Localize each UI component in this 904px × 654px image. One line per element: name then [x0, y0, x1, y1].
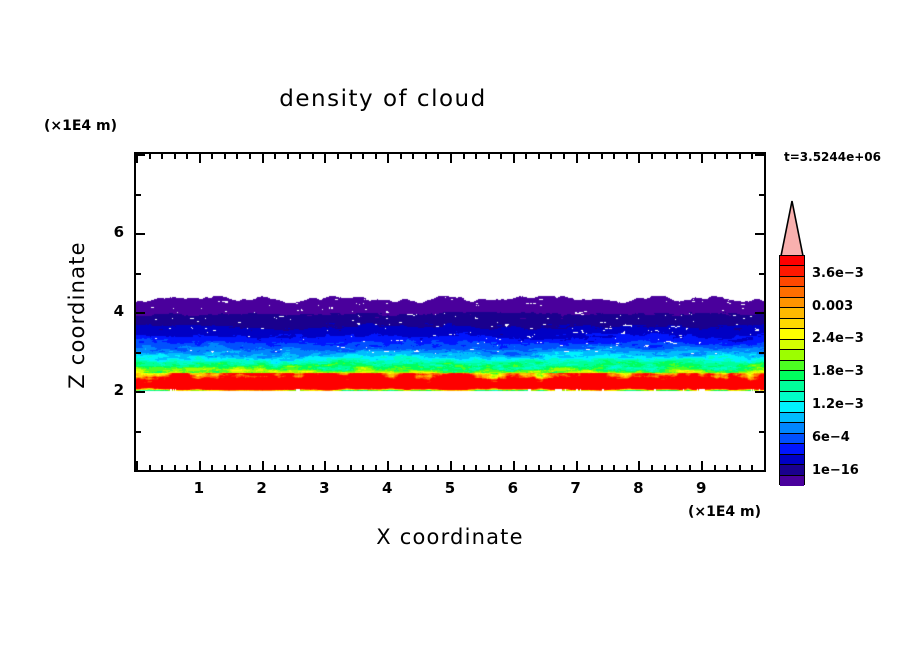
- colorbar-segment: [780, 381, 804, 391]
- tick-mark: [755, 233, 764, 235]
- tick-mark: [161, 465, 163, 470]
- tick-mark: [755, 391, 764, 393]
- tick-mark: [475, 465, 477, 470]
- x-tick-label: 3: [304, 479, 344, 497]
- tick-mark: [764, 154, 766, 163]
- tick-mark: [136, 154, 145, 156]
- tick-mark: [755, 312, 764, 314]
- colorbar-segment: [780, 266, 804, 276]
- tick-mark: [626, 465, 628, 470]
- colorbar-segment: [780, 277, 804, 287]
- tick-mark: [488, 154, 490, 159]
- tick-mark: [274, 465, 276, 470]
- tick-mark: [755, 154, 764, 156]
- tick-mark: [664, 154, 666, 159]
- colorbar-segment: [780, 444, 804, 454]
- tick-mark: [136, 273, 141, 275]
- tick-mark: [550, 465, 552, 470]
- tick-mark: [651, 465, 653, 470]
- tick-mark: [751, 465, 753, 470]
- colorbar-segment: [780, 455, 804, 465]
- x-tick-label: 2: [242, 479, 282, 497]
- colorbar-tick-label: 1e−16: [812, 463, 859, 478]
- colorbar-scale: [779, 255, 805, 485]
- colorbar-tick-label: 0.003: [812, 299, 853, 314]
- tick-mark: [513, 154, 515, 163]
- x-tick-label: 1: [179, 479, 219, 497]
- tick-mark: [136, 461, 138, 470]
- tick-mark: [149, 154, 151, 159]
- tick-mark: [324, 154, 326, 163]
- tick-mark: [525, 154, 527, 159]
- tick-mark: [312, 154, 314, 159]
- tick-mark: [538, 465, 540, 470]
- y-axis-title: Z coordinate: [65, 215, 89, 415]
- tick-mark: [400, 465, 402, 470]
- tick-mark: [588, 465, 590, 470]
- tick-mark: [287, 465, 289, 470]
- colorbar-overflow-arrow-icon: [779, 200, 805, 256]
- tick-mark: [136, 194, 141, 196]
- colorbar-segment: [780, 319, 804, 329]
- tick-mark: [387, 461, 389, 470]
- tick-mark: [362, 154, 364, 159]
- tick-mark: [425, 465, 427, 470]
- tick-mark: [211, 465, 213, 470]
- tick-mark: [613, 154, 615, 159]
- tick-mark: [450, 461, 452, 470]
- tick-mark: [626, 154, 628, 159]
- tick-mark: [726, 465, 728, 470]
- x-tick-label: 6: [493, 479, 533, 497]
- tick-mark: [759, 273, 764, 275]
- page-title: density of cloud: [0, 86, 766, 112]
- tick-mark: [764, 461, 766, 470]
- tick-mark: [412, 154, 414, 159]
- tick-mark: [701, 154, 703, 163]
- tick-mark: [550, 154, 552, 159]
- colorbar-tick-label: 6e−4: [812, 430, 850, 445]
- tick-mark: [588, 154, 590, 159]
- tick-mark: [576, 154, 578, 163]
- colorbar-segment: [780, 434, 804, 444]
- tick-mark: [576, 461, 578, 470]
- tick-mark: [689, 154, 691, 159]
- time-annotation: t=3.5244e+06: [784, 150, 881, 164]
- tick-mark: [362, 465, 364, 470]
- tick-mark: [199, 461, 201, 470]
- tick-mark: [262, 154, 264, 163]
- figure-canvas: density of cloud (×1E4 m) t=3.5244e+06 1…: [0, 0, 904, 654]
- tick-mark: [601, 465, 603, 470]
- x-tick-label: 9: [681, 479, 721, 497]
- tick-mark: [136, 352, 141, 354]
- tick-mark: [350, 465, 352, 470]
- colorbar-segment: [780, 308, 804, 318]
- colorbar: [779, 200, 805, 485]
- tick-mark: [500, 465, 502, 470]
- colorbar-tick-label: 1.2e−3: [812, 397, 864, 412]
- colorbar-segment: [780, 256, 804, 266]
- tick-mark: [236, 465, 238, 470]
- tick-mark: [450, 154, 452, 163]
- tick-mark: [136, 312, 145, 314]
- tick-mark: [755, 470, 764, 472]
- colorbar-segment: [780, 392, 804, 402]
- tick-mark: [714, 154, 716, 159]
- tick-mark: [136, 470, 145, 472]
- x-tick-label: 4: [367, 479, 407, 497]
- tick-mark: [236, 154, 238, 159]
- tick-mark: [186, 465, 188, 470]
- tick-mark: [400, 154, 402, 159]
- tick-mark: [638, 461, 640, 470]
- colorbar-tick-label: 2.4e−3: [812, 331, 864, 346]
- tick-mark: [726, 154, 728, 159]
- tick-mark: [299, 465, 301, 470]
- colorbar-segment: [780, 361, 804, 371]
- tick-mark: [211, 154, 213, 159]
- tick-mark: [287, 154, 289, 159]
- tick-mark: [161, 154, 163, 159]
- tick-mark: [174, 465, 176, 470]
- colorbar-segment: [780, 476, 804, 486]
- tick-mark: [513, 461, 515, 470]
- contour-heatmap: [136, 154, 764, 470]
- tick-mark: [387, 154, 389, 163]
- tick-mark: [136, 431, 141, 433]
- colorbar-segment: [780, 423, 804, 433]
- tick-mark: [500, 154, 502, 159]
- tick-mark: [563, 465, 565, 470]
- colorbar-segment: [780, 287, 804, 297]
- tick-mark: [463, 154, 465, 159]
- tick-mark: [613, 465, 615, 470]
- tick-mark: [463, 465, 465, 470]
- tick-mark: [525, 465, 527, 470]
- tick-mark: [274, 154, 276, 159]
- colorbar-segment: [780, 413, 804, 423]
- colorbar-segment: [780, 340, 804, 350]
- tick-mark: [739, 465, 741, 470]
- colorbar-tick-label: 1.8e−3: [812, 364, 864, 379]
- tick-mark: [714, 465, 716, 470]
- tick-mark: [759, 352, 764, 354]
- tick-mark: [312, 465, 314, 470]
- tick-mark: [299, 154, 301, 159]
- tick-mark: [375, 465, 377, 470]
- tick-mark: [249, 154, 251, 159]
- tick-mark: [224, 465, 226, 470]
- tick-mark: [174, 154, 176, 159]
- colorbar-segment: [780, 371, 804, 381]
- tick-mark: [689, 465, 691, 470]
- tick-mark: [676, 154, 678, 159]
- colorbar-tick-label: 3.6e−3: [812, 266, 864, 281]
- x-tick-label: 8: [618, 479, 658, 497]
- y-axis-unit-label: (×1E4 m): [44, 118, 117, 134]
- tick-mark: [249, 465, 251, 470]
- y-tick-label: 2: [100, 381, 124, 399]
- colorbar-segment: [780, 329, 804, 339]
- tick-mark: [739, 154, 741, 159]
- y-tick-label: 4: [100, 302, 124, 320]
- tick-mark: [601, 154, 603, 159]
- tick-mark: [759, 194, 764, 196]
- tick-mark: [676, 465, 678, 470]
- tick-mark: [751, 154, 753, 159]
- tick-mark: [664, 465, 666, 470]
- tick-mark: [651, 154, 653, 159]
- tick-mark: [324, 461, 326, 470]
- tick-mark: [136, 391, 145, 393]
- plot-area: [134, 152, 766, 472]
- tick-mark: [425, 154, 427, 159]
- tick-mark: [701, 461, 703, 470]
- tick-mark: [199, 154, 201, 163]
- tick-mark: [350, 154, 352, 159]
- tick-mark: [262, 461, 264, 470]
- tick-mark: [224, 154, 226, 159]
- tick-mark: [759, 431, 764, 433]
- tick-mark: [337, 465, 339, 470]
- colorbar-segment: [780, 298, 804, 308]
- tick-mark: [475, 154, 477, 159]
- tick-mark: [638, 154, 640, 163]
- tick-mark: [337, 154, 339, 159]
- tick-mark: [538, 154, 540, 159]
- tick-mark: [437, 154, 439, 159]
- tick-mark: [375, 154, 377, 159]
- x-axis-unit-label: (×1E4 m): [688, 504, 761, 520]
- tick-mark: [488, 465, 490, 470]
- x-axis-title: X coordinate: [134, 525, 766, 549]
- colorbar-segment: [780, 402, 804, 412]
- tick-mark: [412, 465, 414, 470]
- x-tick-label: 7: [556, 479, 596, 497]
- tick-mark: [149, 465, 151, 470]
- x-tick-label: 5: [430, 479, 470, 497]
- tick-mark: [136, 233, 145, 235]
- y-tick-label: 6: [100, 223, 124, 241]
- colorbar-segment: [780, 465, 804, 475]
- tick-mark: [563, 154, 565, 159]
- tick-mark: [186, 154, 188, 159]
- colorbar-segment: [780, 350, 804, 360]
- tick-mark: [437, 465, 439, 470]
